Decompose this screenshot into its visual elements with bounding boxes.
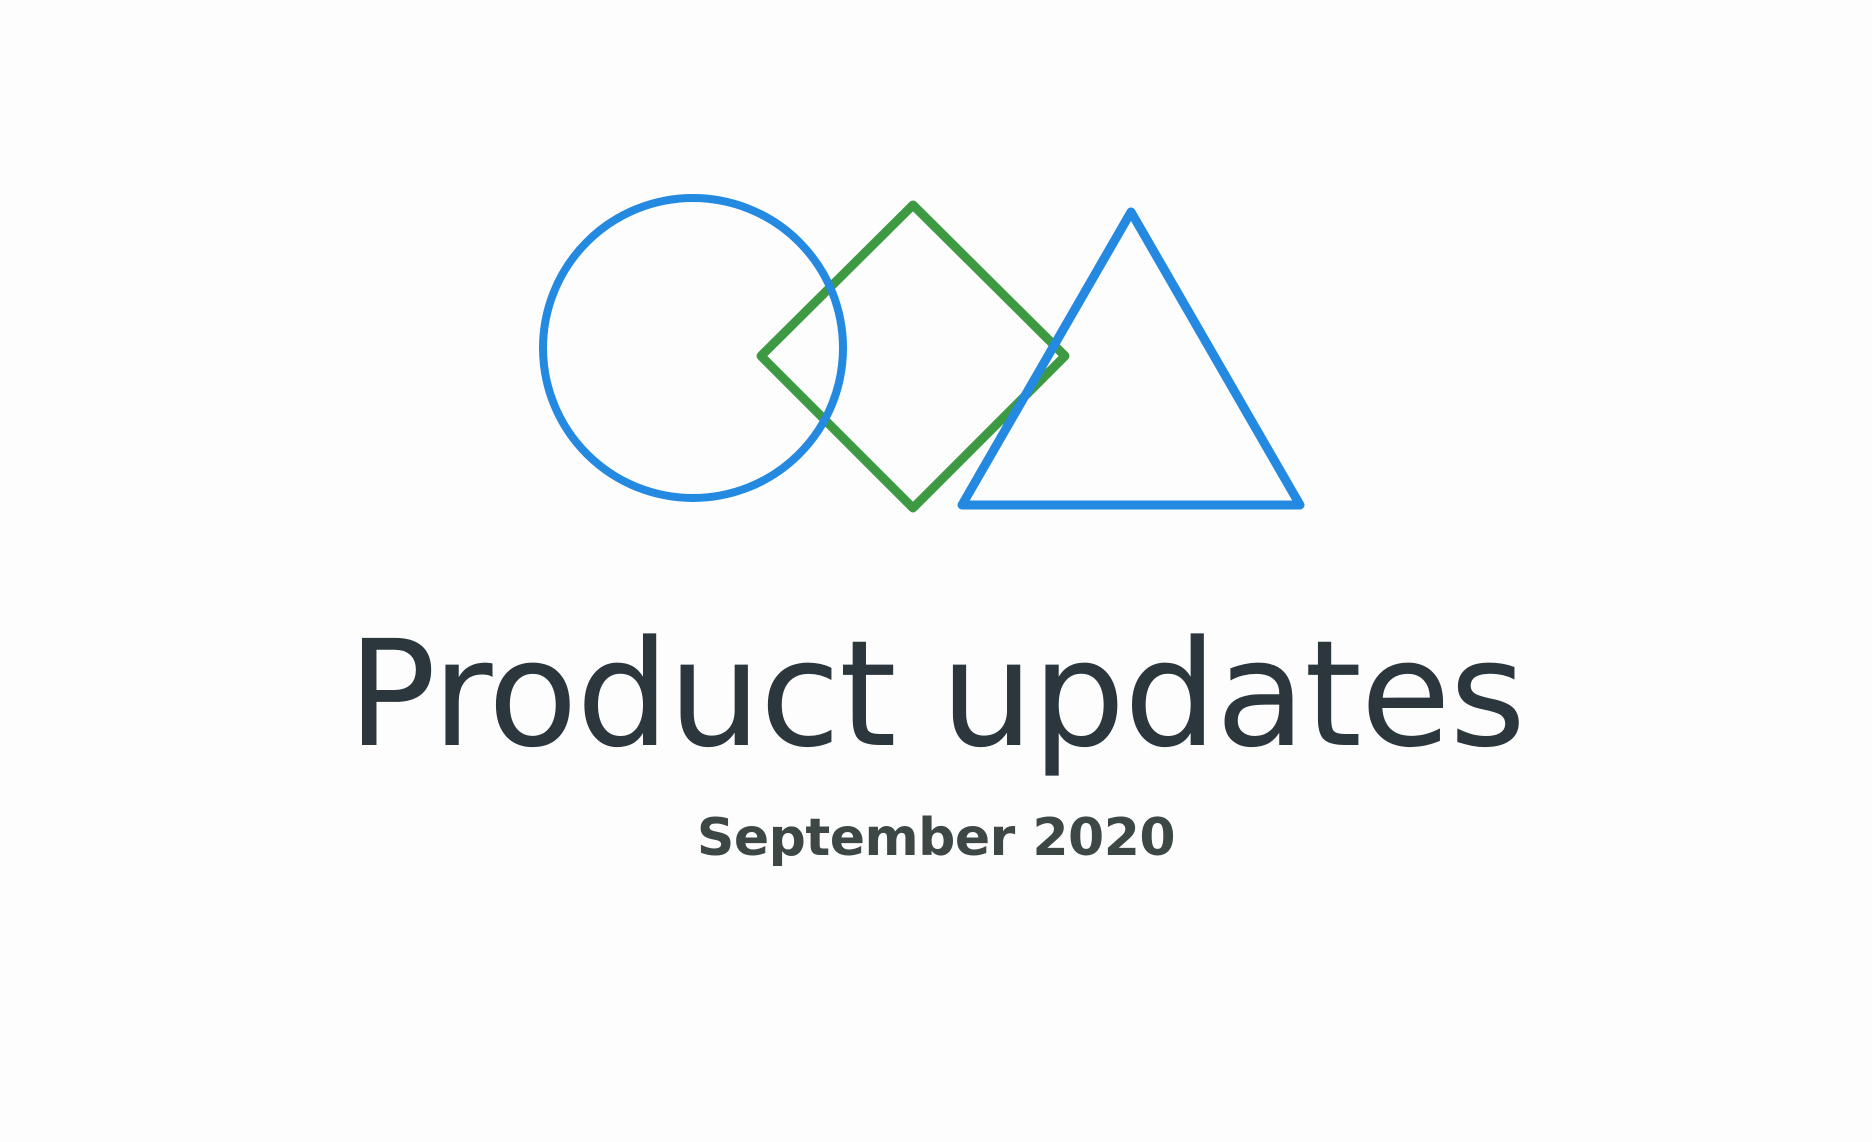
three-shapes-logo bbox=[520, 180, 1340, 530]
page-title: Product updates bbox=[0, 620, 1872, 770]
page-subtitle: September 2020 bbox=[0, 770, 1872, 867]
title-slide: Product updates September 2020 bbox=[0, 0, 1872, 1142]
triangle-icon bbox=[962, 212, 1300, 505]
title-block: Product updates September 2020 bbox=[0, 620, 1872, 867]
circle-icon bbox=[543, 198, 843, 498]
